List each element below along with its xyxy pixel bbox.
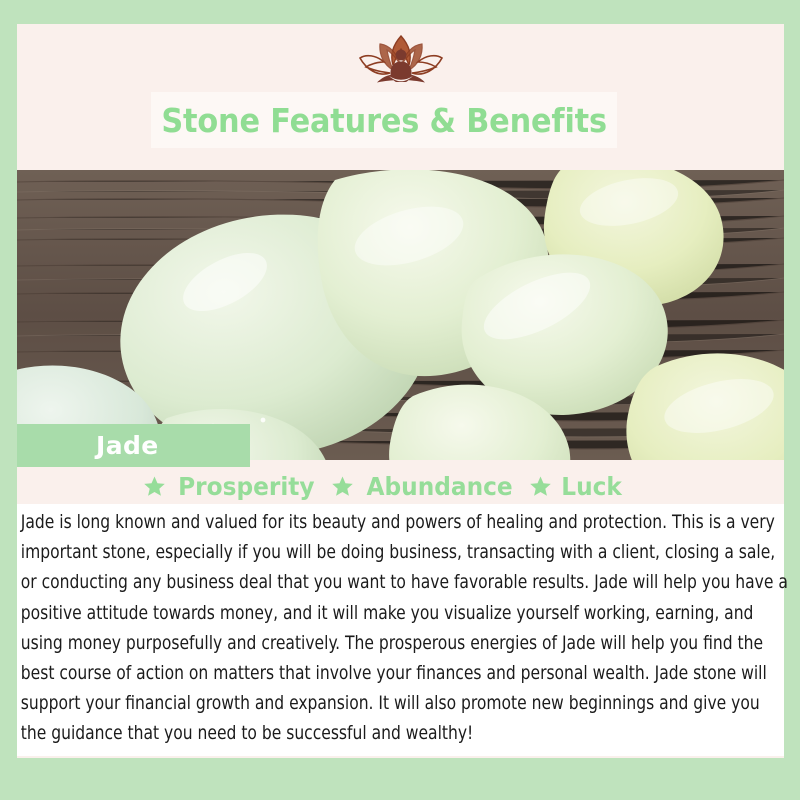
star-icon (143, 475, 166, 498)
keyword-label: Luck (561, 472, 622, 501)
stone-name-badge: Jade (17, 424, 250, 467)
star-icon (331, 475, 354, 498)
section-title-banner: Stone Features & Benefits (151, 92, 617, 148)
keyword-label: Abundance (366, 472, 512, 501)
keyword-list: Prosperity Abundance Luck (0, 468, 767, 504)
stone-name-label: Jade (96, 431, 159, 460)
keyword-item: Luck (529, 472, 624, 501)
description-text: Jade is long known and valued for its be… (17, 508, 794, 750)
decorative-band-bottom (0, 758, 800, 800)
hero-image (17, 170, 784, 460)
lotus-meditation-icon (330, 32, 472, 90)
decorative-band-top (0, 0, 800, 24)
decorative-edge-left (0, 0, 17, 800)
keyword-item: Prosperity (143, 472, 320, 501)
description-card: Jade is long known and valued for its be… (17, 504, 784, 756)
page-title: Stone Features & Benefits (161, 101, 607, 140)
infographic-page: BUDDHA STONES (0, 0, 800, 800)
keyword-label: Prosperity (178, 472, 314, 501)
star-icon (529, 475, 552, 498)
keyword-item: Abundance (331, 472, 518, 501)
